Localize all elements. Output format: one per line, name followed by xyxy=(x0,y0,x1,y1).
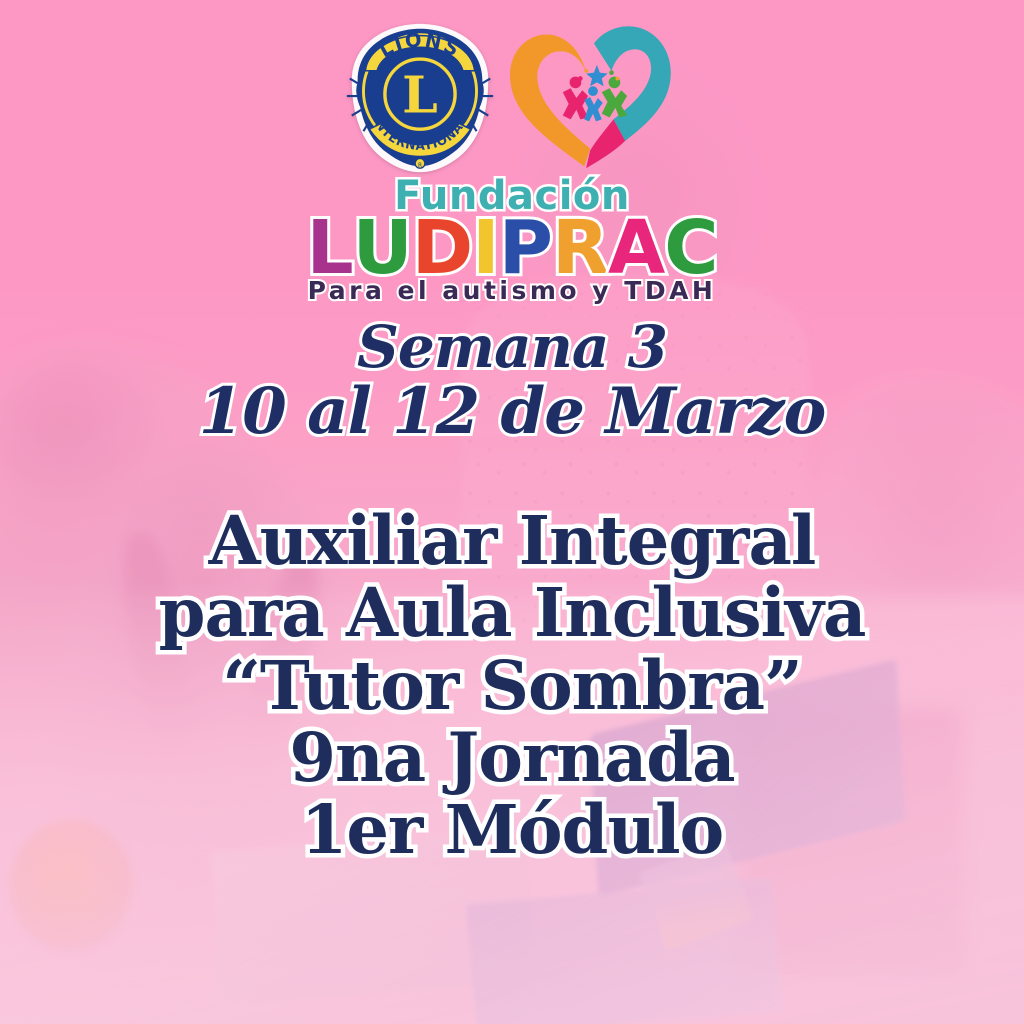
logo-block: LIONS L INTERNATIONAL R xyxy=(0,20,1024,303)
brand-letter-r: R xyxy=(552,214,608,282)
brand-letter-d: D xyxy=(412,214,472,282)
date-block: Semana 3 10 al 12 de Marzo xyxy=(0,318,1024,444)
logo-row: LIONS L INTERNATIONAL R xyxy=(342,20,682,180)
brand-letter-c: C xyxy=(664,214,717,282)
headline-line-1: Auxiliar Integral xyxy=(0,505,1024,577)
brand-letter-u: U xyxy=(353,214,412,282)
lions-international-logo-icon: LIONS L INTERNATIONAL R xyxy=(342,20,498,178)
headline-line-3: “Tutor Sombra” xyxy=(0,650,1024,722)
brand-letter-p: P xyxy=(499,214,552,282)
brand-letter-i: I xyxy=(472,214,499,282)
brand-letter-a: A xyxy=(608,214,664,282)
headline-block: Auxiliar Integral para Aula Inclusiva “T… xyxy=(0,505,1024,867)
brand-tagline: Para el autismo y TDAH xyxy=(308,278,717,303)
headline-line-4: 9na Jornada xyxy=(0,722,1024,794)
week-label: Semana 3 xyxy=(0,318,1024,376)
headline-line-2: para Aula Inclusiva xyxy=(0,577,1024,649)
poster-canvas: LIONS L INTERNATIONAL R xyxy=(0,0,1024,1024)
brand-letter-l: L xyxy=(306,214,352,282)
svg-text:R: R xyxy=(418,163,422,169)
date-range: 10 al 12 de Marzo xyxy=(0,380,1024,444)
svg-text:L: L xyxy=(402,65,438,125)
headline-line-5: 1er Módulo xyxy=(0,794,1024,866)
ludiprac-heart-logo-icon xyxy=(504,22,682,174)
brand-wordmark: L U D I P R A C xyxy=(306,214,717,282)
